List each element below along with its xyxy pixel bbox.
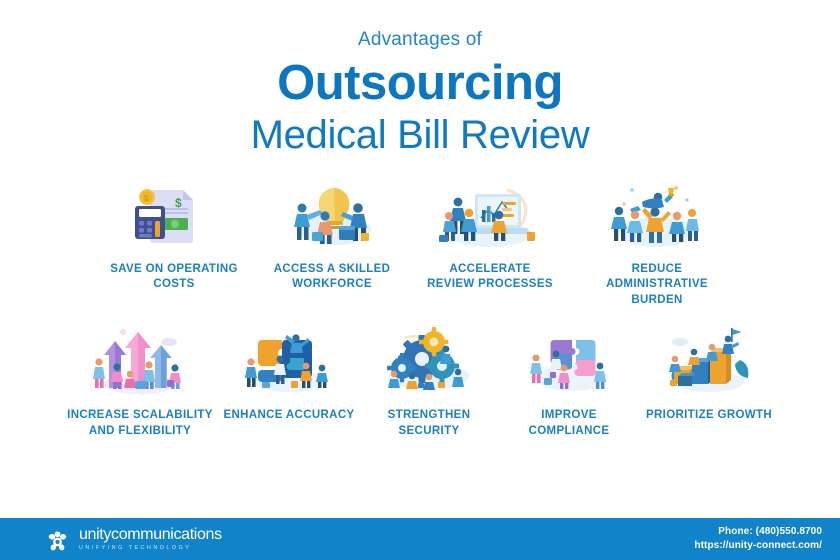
brand-tagline: UNIFYING TECHNOLOGY bbox=[79, 546, 222, 551]
brand-name: unitycommunications bbox=[79, 527, 222, 543]
advantage-label: STRENGTHEN SECURITY bbox=[363, 408, 495, 439]
advantage-label: ACCESS A SKILLED WORKFORCE bbox=[266, 262, 398, 293]
header: Advantages of Outsourcing Medical Bill R… bbox=[0, 0, 840, 158]
advantage-label: INCREASE SCALABILITY AND FLEXIBILITY bbox=[65, 408, 215, 439]
contact-info: Phone: (480)550.8700 https://unity-conne… bbox=[694, 525, 822, 554]
advantages-row-2: INCREASE SCALABILITY AND FLEXIBILITY bbox=[0, 326, 840, 439]
page-title: Outsourcing bbox=[0, 56, 840, 111]
advantage-card-access-a-skilled-workforce: ACCESS A SKILLED WORKFORCE bbox=[266, 180, 398, 293]
advantage-card-save-on-operating-costs: $ $ bbox=[108, 180, 240, 293]
advantages-row-1: $ $ bbox=[0, 180, 840, 309]
growth-arrows-team-icon bbox=[85, 326, 195, 396]
celebration-trophy-team-icon bbox=[602, 180, 712, 250]
advantage-label: PRIORITIZE GROWTH bbox=[646, 408, 772, 424]
advantage-card-accelerate-review-processes: ACCELERATE REVIEW PROCESSES bbox=[424, 180, 556, 293]
infographic-page: Advantages of Outsourcing Medical Bill R… bbox=[0, 0, 840, 560]
footer-bar: unitycommunications UNIFYING TECHNOLOGY … bbox=[0, 518, 840, 560]
advantage-card-improve-compliance: IMPROVE COMPLIANCE bbox=[503, 326, 635, 439]
invoice-calculator-money-icon: $ $ bbox=[119, 180, 229, 250]
unity-burst-logo-icon bbox=[45, 527, 70, 552]
laptop-analytics-team-icon bbox=[435, 180, 545, 250]
advantage-card-prioritize-growth: PRIORITIZE GROWTH bbox=[643, 326, 775, 424]
advantage-label: REDUCE ADMINISTRATIVE BURDEN bbox=[582, 262, 732, 309]
advantages-grid: $ $ bbox=[0, 180, 840, 440]
page-subtitle: Medical Bill Review bbox=[0, 112, 840, 158]
bar-chart-climb-flag-icon bbox=[654, 326, 764, 396]
advantage-label: ENHANCE ACCURACY bbox=[223, 408, 354, 424]
svg-text:$: $ bbox=[175, 196, 182, 210]
advantage-card-strengthen-security: STRENGTHEN SECURITY bbox=[363, 326, 495, 439]
advantage-label: SAVE ON OPERATING COSTS bbox=[108, 262, 240, 293]
contact-phone: Phone: (480)550.8700 bbox=[694, 525, 822, 540]
brand-logo[interactable]: unitycommunications UNIFYING TECHNOLOGY bbox=[45, 527, 222, 552]
advantage-label: ACCELERATE REVIEW PROCESSES bbox=[424, 262, 556, 293]
svg-text:$: $ bbox=[144, 194, 149, 203]
gears-team-icon bbox=[374, 326, 484, 396]
puzzle-blocks-team-icon bbox=[514, 326, 624, 396]
advantage-card-reduce-administrative-burden: REDUCE ADMINISTRATIVE BURDEN bbox=[582, 180, 732, 309]
advantage-card-enhance-accuracy: ENHANCE ACCURACY bbox=[223, 326, 355, 424]
header-eyebrow: Advantages of bbox=[0, 30, 840, 51]
lightbulb-team-icon bbox=[277, 180, 387, 250]
contact-website[interactable]: https://unity-connect.com/ bbox=[694, 539, 822, 554]
puzzle-pieces-team-icon bbox=[234, 326, 344, 396]
advantage-label: IMPROVE COMPLIANCE bbox=[503, 408, 635, 439]
advantage-card-increase-scalability-and-flexibility: INCREASE SCALABILITY AND FLEXIBILITY bbox=[65, 326, 215, 439]
brand-text: unitycommunications UNIFYING TECHNOLOGY bbox=[79, 527, 222, 551]
